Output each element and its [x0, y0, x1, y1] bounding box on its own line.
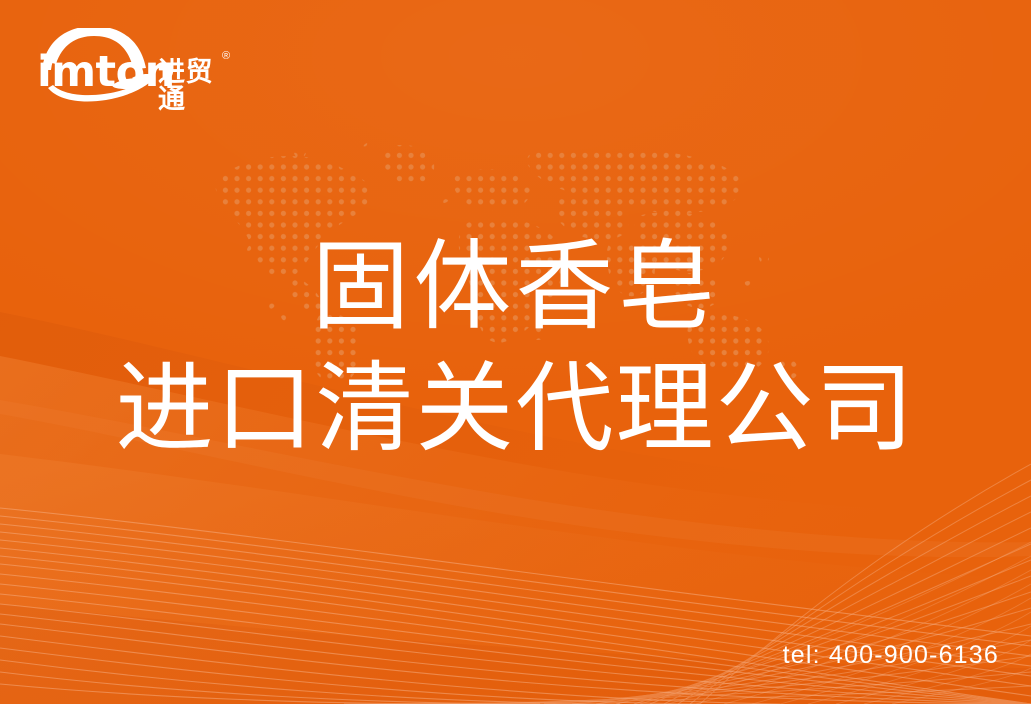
headline: 固体香皂 进口清关代理公司 [0, 232, 1031, 464]
logo-wordmark: imton [37, 51, 175, 94]
brand-logo[interactable]: imton 进贸通 ® [36, 28, 232, 102]
promotional-banner: imton 进贸通 ® 固体香皂 进口清关代理公司 tel: 400-900-6… [0, 0, 1031, 704]
headline-line-1: 固体香皂 [0, 232, 1031, 342]
headline-line-2: 进口清关代理公司 [0, 354, 1031, 464]
contact-phone[interactable]: tel: 400-900-6136 [783, 641, 999, 670]
trademark-icon: ® [222, 51, 230, 62]
logo-chinese-name: 进贸通 [158, 59, 232, 113]
logo-mark: imton 进贸通 ® [36, 28, 232, 102]
